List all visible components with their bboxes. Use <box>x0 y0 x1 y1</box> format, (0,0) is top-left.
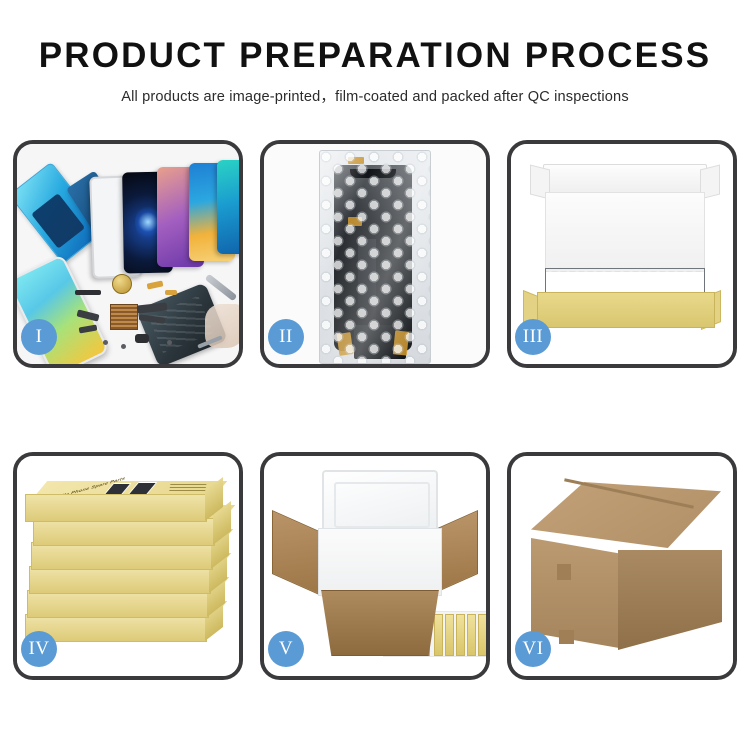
step-badge-5: V <box>268 631 304 667</box>
page-subtitle: All products are image-printed，film-coat… <box>0 85 750 106</box>
yellow-box-body <box>537 292 715 328</box>
bubble-wrapped-package <box>319 150 431 364</box>
phone-screen-teal <box>217 160 243 254</box>
step-badge-4: IV <box>21 631 57 667</box>
packed-box-5 <box>434 614 443 656</box>
process-step-2: II <box>260 140 490 368</box>
page-title: PRODUCT PREPARATION PROCESS <box>0 38 750 73</box>
carton-tape-patch-2 <box>559 630 574 644</box>
carton-body-open <box>316 590 444 656</box>
white-foam-sheet <box>545 192 705 272</box>
plastic-sheen-overlay <box>320 151 430 363</box>
step-badge-3: III <box>515 319 551 355</box>
process-step-5: V <box>260 452 490 680</box>
step-badge-1: I <box>21 319 57 355</box>
stacked-retail-boxes: Mobile Phone Spare Parts Mobile Phone Sp… <box>23 474 241 664</box>
speaker-component <box>112 274 132 294</box>
retail-box-labeled-1: Mobile Phone Spare Parts <box>25 494 221 520</box>
carton-front-face <box>531 538 619 648</box>
camera-module-component <box>135 334 149 343</box>
phone-screen-fan <box>91 160 241 276</box>
process-step-4: Mobile Phone Spare Parts Mobile Phone Sp… <box>13 452 243 680</box>
screw-1 <box>103 340 108 345</box>
foam-lid-open <box>322 470 438 536</box>
step-badge-6: VI <box>515 631 551 667</box>
packed-box-8 <box>467 614 476 656</box>
packed-box-9 <box>478 614 487 656</box>
packed-box-7 <box>456 614 465 656</box>
screw-2 <box>121 344 126 349</box>
step-badge-2: II <box>268 319 304 355</box>
circuit-board-component <box>110 304 138 330</box>
gold-connector-2 <box>165 290 177 295</box>
earpiece-component <box>75 290 101 295</box>
process-step-3: III <box>507 140 737 368</box>
process-step-6: VI <box>507 452 737 680</box>
product-preparation-infographic: PRODUCT PREPARATION PROCESS All products… <box>0 0 750 750</box>
packed-box-6 <box>445 614 454 656</box>
screw-3 <box>167 340 172 345</box>
process-step-1: I <box>13 140 243 368</box>
carton-tape-patch-1 <box>557 564 571 580</box>
process-step-grid: I II <box>13 140 737 680</box>
foam-insert <box>318 528 442 596</box>
header: PRODUCT PREPARATION PROCESS All products… <box>0 38 750 106</box>
